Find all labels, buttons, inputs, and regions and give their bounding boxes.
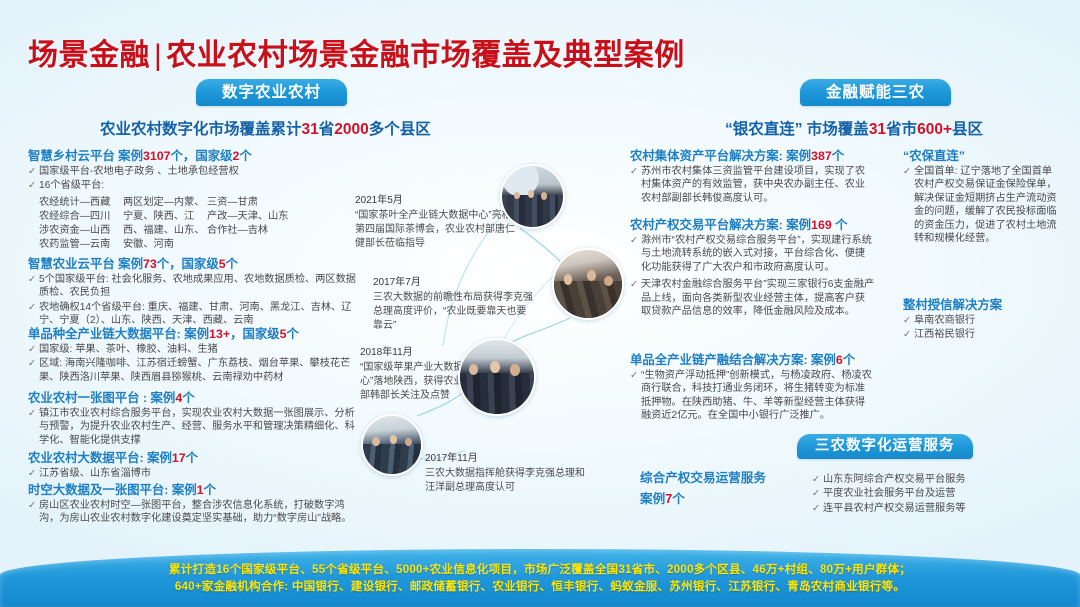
- page-title-main: 场景金融: [28, 39, 150, 72]
- check-icon: ✓: [630, 278, 641, 291]
- photo-image: [502, 166, 563, 227]
- check-icon: ✓: [28, 165, 39, 178]
- page-title-separator: |: [150, 39, 166, 72]
- timeline-date-3: 2017年11月: [425, 452, 590, 466]
- ops-left-title: 综合产权交易运营服务 案例7个: [640, 468, 800, 510]
- photo-image: [363, 416, 421, 474]
- headline-right-pre: “银农直连” 市场覆盖: [725, 121, 869, 138]
- bullet-item: ✓滁州市“农村产权交易综合服务平台”，实现建行系统与土地流转系统的嵌入式对接，平…: [630, 234, 875, 274]
- check-icon: ✓: [630, 234, 641, 247]
- timeline-date-0: 2021年5月: [355, 194, 520, 208]
- left-block-2: 单品种全产业链大数据平台: 案例13+，国家级5个 ✓国家级: 苹果、茶叶、橡胶…: [28, 326, 363, 385]
- bullet-item: ✓国家级: 苹果、茶叶、橡胶、油料、生猪: [28, 343, 363, 356]
- check-icon: ✓: [630, 369, 641, 382]
- right-block-1-heading: 农村产权交易平台解决方案: 案例169 个: [630, 217, 875, 233]
- timeline-photo-1: [552, 248, 624, 320]
- bullet-item: ✓苏州市农村集体三资监管平台建设项目，实现了农村集体资产的有效监管，获中央农办副…: [630, 165, 870, 205]
- bullet-item: ✓天津农村金融综合服务平台”实现三家银行6支金融产品上线，面向各类新型农业经营主…: [630, 278, 875, 318]
- page-title-sub: 农业农村场景金融市场覆盖及典型案例: [166, 39, 685, 72]
- headline-right-num2: 600+: [917, 121, 952, 138]
- timeline-caption-0: 2021年5月 “国家茶叶全产业链大数据中心”亮相第四届国际茶博会，农业农村部唐…: [355, 194, 520, 251]
- timeline-body-0: “国家茶叶全产业链大数据中心”亮相第四届国际茶博会，农业农村部唐仁健部长莅临指导: [355, 209, 520, 251]
- far-right-block-1: 整村授信解决方案 ✓阜南农商银行 ✓江西裕民银行: [903, 297, 1061, 343]
- timeline-caption-3: 2017年11月 三农大数据指挥舱获得李克强总理和汪洋副总理高度认可: [425, 452, 590, 495]
- banner-line-1: 累计打造16个国家级平台、55个省级平台、5000+农业信息化项目，市场广泛覆盖…: [169, 561, 911, 578]
- timeline-date-1: 2017年7月: [373, 276, 533, 290]
- check-icon: ✓: [812, 502, 823, 515]
- bullet-item: ✓阜南农商银行: [903, 314, 1061, 327]
- photo-image: [554, 250, 622, 318]
- check-icon: ✓: [903, 165, 914, 178]
- headline-left-post: 多个县区: [369, 121, 431, 138]
- left-block-4-heading: 农业农村大数据平台: 案例17个: [28, 450, 363, 466]
- check-icon: ✓: [28, 343, 39, 356]
- far-right-block-0-heading: “农保直连”: [903, 148, 1061, 164]
- check-icon: ✓: [630, 165, 641, 178]
- right-block-1: 农村产权交易平台解决方案: 案例169 个 ✓滁州市“农村产权交易综合服务平台”…: [630, 217, 875, 319]
- bullet-item: ✓国家级平台-农地电子政务 、土地承包经营权: [28, 165, 358, 178]
- bullet-item: ✓房山区农业农村时空—张图平台，整合涉农信息化系统，打破数字鸿沟，为房山农业农村…: [28, 499, 363, 526]
- left-block-3: 农业农村一张图平台 : 案例4个 ✓镇江市农业农村综合服务平台，实现农业农村大数…: [28, 390, 363, 448]
- ops-title-line1: 综合产权交易运营服务: [640, 468, 800, 488]
- page-title: 场景金融|农业农村场景金融市场覆盖及典型案例: [28, 30, 685, 74]
- check-icon: ✓: [28, 179, 39, 192]
- province-grid: 农经统计—西藏 两区划定—内蒙、 三资—甘肃 农经综合—四川 宁夏、陕西、江 产…: [39, 196, 358, 252]
- headline-left: 农业农村数字化市场覆盖累计31省2000多个县区: [100, 117, 431, 139]
- check-icon: ✓: [28, 499, 39, 512]
- check-icon: ✓: [28, 407, 39, 420]
- left-block-4: 农业农村大数据平台: 案例17个 ✓江苏省级、山东省淄博市: [28, 450, 363, 481]
- check-icon: ✓: [812, 473, 823, 486]
- left-block-2-heading: 单品种全产业链大数据平台: 案例13+，国家级5个: [28, 326, 363, 342]
- timeline-photo-0: [500, 164, 565, 229]
- bullet-item: ✓“生物资产浮动抵押”创新模式，与杨凌政府、杨凌农商行联合，科技打通业务闭环，将…: [630, 369, 875, 423]
- check-icon: ✓: [903, 314, 914, 327]
- bullet-item: ✓农地确权14个省级平台: 重庆、福建、甘肃、河南、黑龙江、吉林、辽宁、宁夏（2…: [28, 301, 363, 328]
- timeline-caption-1: 2017年7月 三农大数据的前瞻性布局获得李克强总理高度评价，“农业既要靠天也要…: [373, 276, 533, 333]
- headline-right-num1: 31: [869, 121, 886, 138]
- left-block-0: 智慧乡村云平台 案例3107个，国家级2个 ✓国家级平台-农地电子政务 、土地承…: [28, 148, 358, 252]
- right-block-0: 农村集体资产平台解决方案: 案例387个 ✓苏州市农村集体三资监管平台建设项目，…: [630, 148, 870, 206]
- left-block-0-heading: 智慧乡村云平台 案例3107个，国家级2个: [28, 148, 358, 164]
- bullet-item: ✓全国首单: 辽宁落地了全国首单农村产权交易保证金保险保单，解决保证金短期挤占生…: [903, 165, 1061, 245]
- photo-image: [460, 340, 534, 414]
- timeline-photo-zone: 2021年5月 “国家茶叶全产业链大数据中心”亮相第四届国际茶博会，农业农村部唐…: [355, 150, 620, 480]
- headline-right-post: 县区: [952, 121, 983, 138]
- far-right-block-1-heading: 整村授信解决方案: [903, 297, 1061, 313]
- check-icon: ✓: [28, 357, 39, 370]
- left-block-1-heading: 智慧农业云平台 案例73个，国家级5个: [28, 256, 363, 272]
- far-right-block-0: “农保直连” ✓全国首单: 辽宁落地了全国首单农村产权交易保证金保险保单，解决保…: [903, 148, 1061, 246]
- bullet-item: ✓山东东阿综合产权交易平台服务: [812, 473, 1062, 486]
- left-block-1: 智慧农业云平台 案例73个，国家级5个 ✓5个国家级平台: 社会化服务、农地成果…: [28, 256, 363, 329]
- headline-left-pre: 农业农村数字化市场覆盖累计: [100, 121, 302, 138]
- bullet-item: ✓区域: 海南兴隆咖啡、江苏宿迁螃蟹、广东荔枝、烟台苹果、攀枝花芒果、陕西洛川苹…: [28, 357, 363, 384]
- right-block-2: 单品全产业链产融结合解决方案: 案例6个 ✓“生物资产浮动抵押”创新模式，与杨凌…: [630, 352, 875, 424]
- banner-line-2: 640+家金融机构合作: 中国银行、建设银行、邮政储蓄银行、农业银行、恒丰银行、…: [175, 578, 905, 595]
- check-icon: ✓: [28, 301, 39, 314]
- right-block-2-heading: 单品全产业链产融结合解决方案: 案例6个: [630, 352, 875, 368]
- bullet-item: ✓连平县农村产权交易运营服务等: [812, 502, 1062, 515]
- timeline-body-1: 三农大数据的前瞻性布局获得李克强总理高度评价，“农业既要靠天也要靠云”: [373, 291, 533, 333]
- slide-canvas: 场景金融|农业农村场景金融市场覆盖及典型案例 数字农业农村 金融赋能三农 农业农…: [0, 0, 1080, 607]
- right-block-0-heading: 农村集体资产平台解决方案: 案例387个: [630, 148, 870, 164]
- bullet-item: ✓江西裕民银行: [903, 328, 1061, 341]
- bullet-item: ✓镇江市农业农村综合服务平台，实现农业农村大数据一张图展示、分析与预警，为提升农…: [28, 407, 363, 447]
- ops-bullet-list: ✓山东东阿综合产权交易平台服务 ✓平度农业社会服务平台及运营 ✓连平县农村产权交…: [812, 473, 1062, 516]
- timeline-photo-3: [361, 414, 423, 476]
- left-block-5: 时空大数据及一张图平台: 案例1个 ✓房山区农业农村时空—张图平台，整合涉农信息…: [28, 482, 363, 527]
- timeline-body-3: 三农大数据指挥舱获得李克强总理和汪洋副总理高度认可: [425, 467, 590, 495]
- left-block-3-heading: 农业农村一张图平台 : 案例4个: [28, 390, 363, 406]
- section-pill-digital-agriculture: 数字农业农村: [196, 79, 347, 106]
- timeline-photo-2: [458, 338, 536, 416]
- bullet-item: ✓江苏省级、山东省淄博市: [28, 467, 363, 480]
- headline-right: “银农直连” 市场覆盖31省市600+县区: [725, 117, 983, 139]
- headline-left-num1: 31: [302, 121, 319, 138]
- check-icon: ✓: [28, 467, 39, 480]
- headline-left-num2: 2000: [334, 121, 368, 138]
- bullet-item: ✓16个省级平台:: [28, 179, 358, 192]
- section-pill-finance-empowerment: 金融赋能三农: [800, 79, 951, 106]
- section-pill-digital-operations: 三农数字化运营服务: [797, 434, 973, 459]
- check-icon: ✓: [812, 487, 823, 500]
- check-icon: ✓: [903, 328, 914, 341]
- ops-title-line2: 案例7个: [640, 489, 800, 509]
- headline-right-mid: 省市: [886, 121, 917, 138]
- bottom-summary-banner: 累计打造16个国家级平台、55个省级平台、5000+农业信息化项目，市场广泛覆盖…: [0, 549, 1080, 607]
- headline-left-mid: 省: [319, 121, 335, 138]
- bullet-item: ✓平度农业社会服务平台及运营: [812, 487, 1062, 500]
- left-block-5-heading: 时空大数据及一张图平台: 案例1个: [28, 482, 363, 498]
- check-icon: ✓: [28, 273, 39, 286]
- bullet-item: ✓5个国家级平台: 社会化服务、农地成果应用、农地数据质检、两区数据质检、农民负…: [28, 273, 363, 300]
